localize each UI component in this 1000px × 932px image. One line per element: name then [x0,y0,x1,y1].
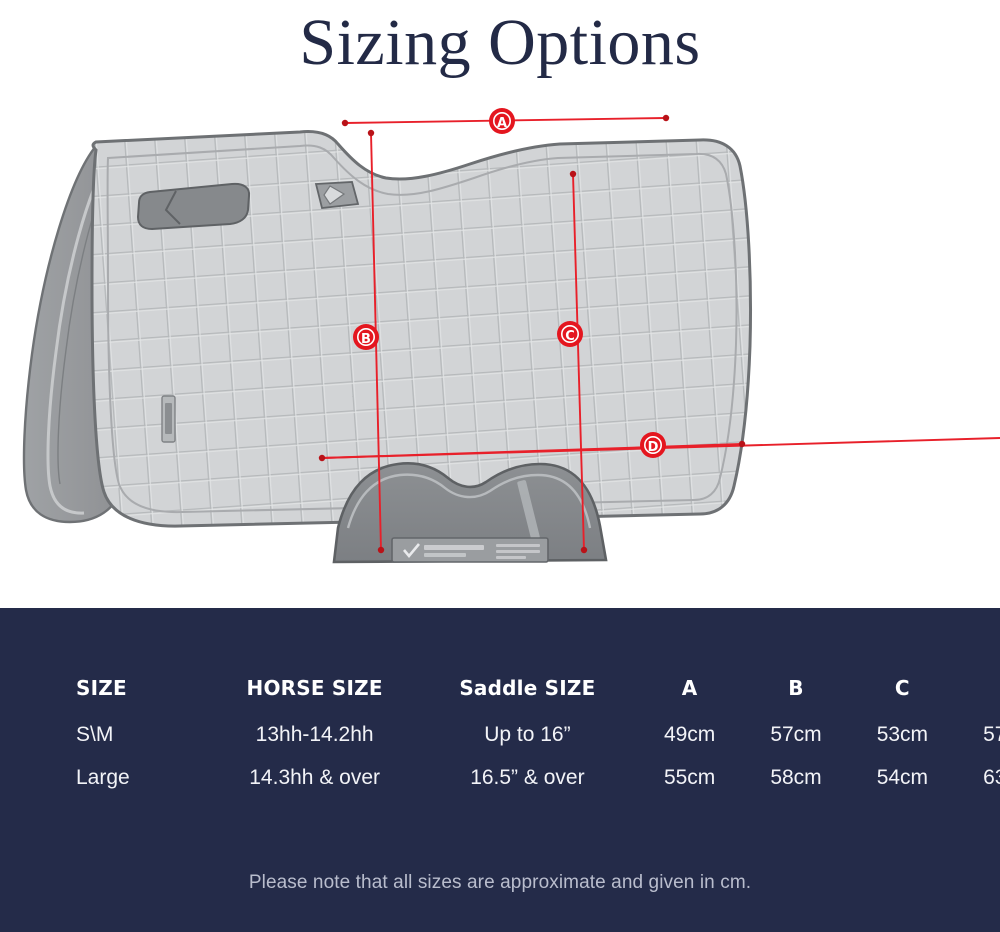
girth-strap-keeper-icon [138,184,249,229]
saddle-pad-diagram: A B C D [0,86,1000,608]
svg-text:B: B [361,332,371,347]
cell-saddle-size: Up to 16” [418,700,636,752]
column-header-horse-size: HORSE SIZE [211,608,418,700]
size-table-panel: SIZE HORSE SIZE Saddle SIZE A B C D S\M … [0,608,1000,932]
measurement-marker-c[interactable]: C [557,321,583,347]
cell-a: 55cm [636,752,742,804]
table-header-row: SIZE HORSE SIZE Saddle SIZE A B C D [62,608,1000,700]
measurement-marker-d[interactable]: D [640,432,666,458]
cell-d: 57cm [956,700,1000,752]
cell-d: 63cm [956,752,1000,804]
saddle-pad-illustration: A B C D [0,86,1000,608]
measurement-marker-a[interactable]: A [489,108,515,134]
page-title: Sizing Options [299,8,700,78]
column-header-saddle-size: Saddle SIZE [418,608,636,700]
cell-c: 53cm [849,700,955,752]
side-tab-label [162,396,175,442]
sizing-options-page: Sizing Options [0,0,1000,932]
svg-text:C: C [565,329,575,344]
cell-c: 54cm [849,752,955,804]
cell-horse-size: 14.3hh & over [211,752,418,804]
cell-size: S\M [62,700,211,752]
cell-size: Large [62,752,211,804]
size-table: SIZE HORSE SIZE Saddle SIZE A B C D S\M … [62,608,1000,804]
size-table-body: S\M 13hh-14.2hh Up to 16” 49cm 57cm 53cm… [62,700,1000,804]
column-header-b: B [743,608,849,700]
column-header-c: C [849,608,955,700]
size-table-head: SIZE HORSE SIZE Saddle SIZE A B C D [62,608,1000,700]
cell-horse-size: 13hh-14.2hh [211,700,418,752]
svg-text:D: D [648,440,659,455]
brand-diamond-logo-icon [316,182,358,208]
column-header-d: D [956,608,1000,700]
cell-b: 57cm [743,700,849,752]
column-header-a: A [636,608,742,700]
cell-a: 49cm [636,700,742,752]
measurement-marker-b[interactable]: B [353,324,379,350]
svg-text:A: A [497,116,507,131]
cell-saddle-size: 16.5” & over [418,752,636,804]
brand-care-label [392,538,548,562]
table-row: S\M 13hh-14.2hh Up to 16” 49cm 57cm 53cm… [62,700,1000,752]
cell-b: 58cm [743,752,849,804]
table-row: Large 14.3hh & over 16.5” & over 55cm 58… [62,752,1000,804]
size-table-note: Please note that all sizes are approxima… [0,872,1000,894]
column-header-size: SIZE [62,608,211,700]
page-title-area: Sizing Options [0,0,1000,86]
